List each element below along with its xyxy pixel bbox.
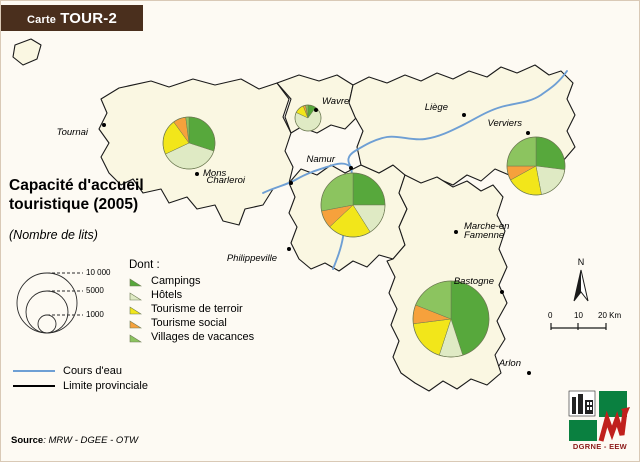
category-legend: Dont : CampingsHôtelsTourisme de terroir… [129,259,319,344]
size-label-1000: 1000 [86,310,104,319]
city-dot-marche-en [454,230,458,234]
map-figure: Carte TOUR-2 TournaiMonsCharleroiWavreNa… [0,0,640,462]
north-arrow-icon [561,267,601,307]
category-legend-rows: CampingsHôtelsTourisme de terroirTourism… [129,274,319,344]
city-dot-tournai [102,123,106,127]
city-dot-philippeville [287,247,291,251]
banner-code: TOUR-2 [60,10,117,27]
line-legend-item: Limite provinciale [13,378,213,393]
source-prefix: Source [11,435,43,446]
legend-title-block: Capacité d'accueil touristique (2005) (N… [9,176,259,242]
exclave-mouscron [13,39,41,65]
category-swatch-icon [129,332,142,343]
logo-text: DGRNE - EEW [567,442,633,451]
pie-chart-luxembourg [413,281,489,357]
banner-prefix: Carte [27,14,56,26]
category-legend-item: Hôtels [129,288,319,302]
category-legend-label: Campings [151,275,201,287]
page-title-line2: touristique (2005) [9,195,259,214]
scale-bar-graphic [546,322,626,336]
category-legend-item: Villages de vacances [129,330,319,344]
category-swatch-icon [129,290,142,301]
page-subtitle: (Nombre de lits) [9,228,259,242]
water-line-icon [13,370,55,372]
line-legend-item: Cours d'eau [13,363,213,378]
city-label-bastogne: Bastogne [454,276,494,287]
pie-chart-namur [321,173,385,237]
scale-tick-10: 10 [574,311,583,320]
size-label-10000: 10 000 [86,268,110,277]
north-arrow: N [561,257,601,307]
city-label-verviers: Verviers [488,118,523,129]
city-label-namur: Namur [306,154,335,165]
organisation-logo: DGRNE - EEW [567,389,633,451]
pie-chart-liège [507,137,565,195]
city-label-wavre: Wavre [322,96,349,107]
size-legend: 10 000 5000 1000 [13,259,125,339]
category-legend-item: Campings [129,274,319,288]
page-title-line1: Capacité d'accueil [9,176,259,195]
category-legend-label: Villages de vacances [151,331,254,343]
source-note: Source: MRW - DGEE - OTW [11,435,138,446]
category-legend-header: Dont : [129,259,319,271]
city-label-arlon: Arlon [499,358,521,369]
border-line-icon [13,385,55,387]
title-banner: Carte TOUR-2 [1,5,143,31]
category-legend-label: Tourisme de terroir [151,303,243,315]
size-circle-1000 [38,315,56,333]
line-legend-rows: Cours d'eauLimite provinciale [13,363,213,393]
category-legend-label: Tourisme social [151,317,227,329]
city-dot-charleroi [289,181,293,185]
page-title: Capacité d'accueil touristique (2005) [9,176,259,214]
line-legend-label: Cours d'eau [63,365,122,377]
category-swatch-icon [129,276,142,287]
source-text: : MRW - DGEE - OTW [43,435,138,446]
category-legend-label: Hôtels [151,289,182,301]
city-label-tournai: Tournai [57,127,88,138]
line-legend-label: Limite provinciale [63,380,148,392]
north-arrow-label: N [561,257,601,267]
city-label-famenne: Famenne [464,230,504,241]
size-label-5000: 5000 [86,286,104,295]
city-dot-namur [349,166,353,170]
city-dot-arlon [527,371,531,375]
line-legend: Cours d'eauLimite provinciale [13,363,213,393]
size-circle-5000 [26,291,68,333]
city-dot-bastogne [500,290,504,294]
size-circle-10000 [17,273,77,333]
pie-chart-hainaut [163,117,215,169]
city-dot-wavre [314,108,318,112]
category-swatch-icon [129,304,142,315]
scale-tick-0: 0 [548,311,552,320]
city-dot-verviers [526,131,530,135]
scale-tick-20: 20 Km [598,311,621,320]
logo-green-square-bottom [569,420,597,441]
city-dot-liège [462,113,466,117]
category-legend-item: Tourisme social [129,316,319,330]
category-legend-item: Tourisme de terroir [129,302,319,316]
category-swatch-icon [129,318,142,329]
city-label-liège: Liège [425,102,448,113]
